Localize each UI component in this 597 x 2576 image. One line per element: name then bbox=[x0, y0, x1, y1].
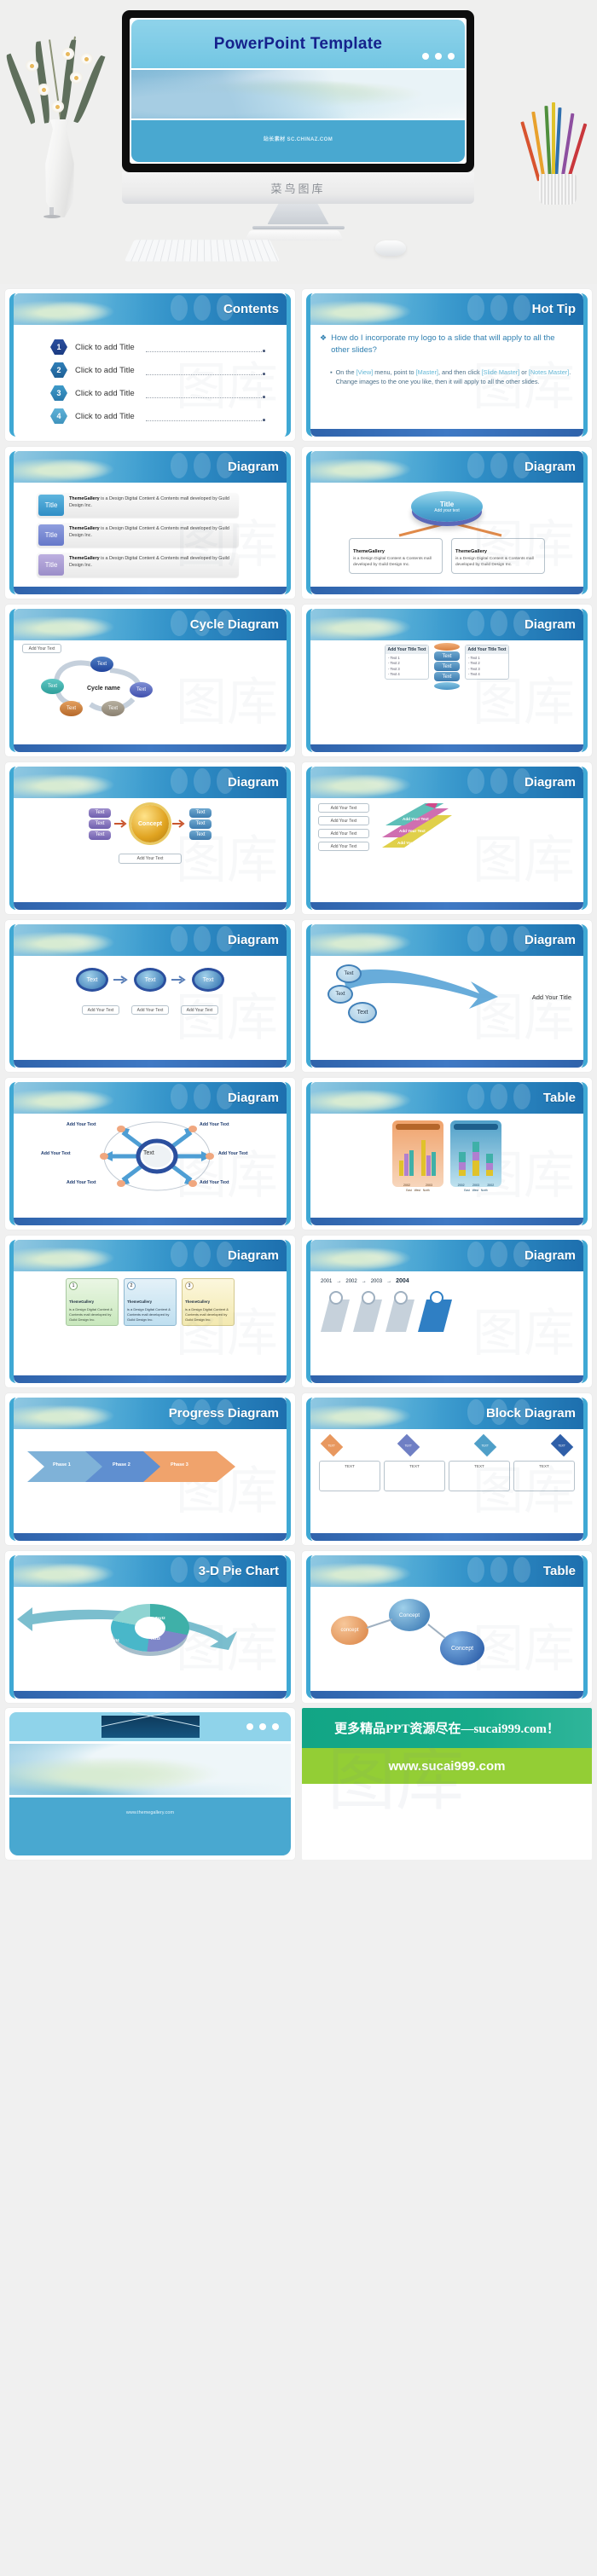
left-label[interactable]: Add Your Text bbox=[318, 816, 369, 825]
panel-line: - Text 4 bbox=[468, 672, 506, 677]
pie-label: Text4 bbox=[109, 1638, 119, 1642]
timeline-year: 2001 bbox=[321, 1279, 332, 1284]
arrow-right-icon bbox=[113, 975, 129, 985]
stack-item[interactable]: Text bbox=[434, 651, 460, 661]
diamond-bullet-icon: ❖ bbox=[320, 333, 327, 356]
arrow-icon: → bbox=[336, 1279, 341, 1284]
hero-dots-icon bbox=[246, 1723, 279, 1730]
step-number: 1 bbox=[50, 339, 67, 355]
stack-item[interactable]: Text bbox=[434, 672, 460, 681]
cycle-node[interactable]: Text bbox=[101, 701, 125, 716]
side-label[interactable]: Text bbox=[189, 819, 212, 829]
card-number: 1 bbox=[69, 1282, 78, 1290]
axis-label: 2002 bbox=[403, 1184, 410, 1187]
slide-grid: Contents 图库 1 Click to add Title 2 Click… bbox=[0, 284, 597, 1703]
block-box[interactable]: TEXT bbox=[449, 1461, 510, 1491]
step-label: Add Your Text bbox=[403, 817, 429, 821]
phase-label: Phase 3 bbox=[171, 1462, 188, 1467]
radial-center: Text bbox=[143, 1150, 154, 1156]
center-concept[interactable]: Concept bbox=[131, 805, 169, 842]
monitor-brand: 菜鸟图库 bbox=[270, 180, 325, 196]
decorative-plant bbox=[7, 34, 118, 217]
slide-title: 3-D Pie Chart bbox=[199, 1564, 279, 1578]
branch-bold: ThemeGallery bbox=[455, 549, 487, 554]
slide-pie-chart-3d[interactable]: 3-D Pie Chart 图库 Text1 Text2 Text3 Text4 bbox=[5, 1551, 295, 1703]
legend-item: East bbox=[406, 1189, 411, 1192]
legend-item: West bbox=[414, 1189, 420, 1192]
branch-text: is a Design Digital Content & Contents m… bbox=[455, 557, 541, 568]
watermark-text: 图库 bbox=[327, 1725, 464, 1824]
cylinder-stack: Text Text Text bbox=[434, 643, 460, 690]
info-card: Title ThemeGallery is a Design Digital C… bbox=[37, 493, 239, 518]
slide-title: Diagram bbox=[228, 933, 279, 947]
card-bold: ThemeGallery bbox=[185, 1300, 210, 1304]
left-label[interactable]: Add Your Text bbox=[318, 842, 369, 851]
arrow-right-icon bbox=[172, 819, 186, 829]
slide-diagram-radial[interactable]: Diagram 图库 bbox=[5, 1078, 295, 1230]
caption-box[interactable]: Add Your Text bbox=[131, 1005, 169, 1015]
legend-item: North bbox=[423, 1189, 430, 1192]
timeline-shapes bbox=[321, 1288, 573, 1335]
step-label: Add Your Text bbox=[397, 841, 424, 845]
info-card: 2 ThemeGallery is a Design Digital Conte… bbox=[124, 1278, 177, 1326]
card-number: 2 bbox=[127, 1282, 136, 1290]
chart-panel-left: 2002 2003 East West North bbox=[392, 1120, 443, 1187]
card-number: 3 bbox=[185, 1282, 194, 1290]
panel-line: - Text 4 bbox=[388, 672, 426, 677]
card-bold: ThemeGallery bbox=[69, 526, 100, 531]
pie-label: Text2 bbox=[155, 1616, 165, 1620]
circle-node[interactable]: Text bbox=[192, 968, 224, 992]
promo-banner[interactable]: 图库 更多精品PPT资源尽在—sucai999.com！ www.sucai99… bbox=[302, 1708, 592, 1860]
card-bold: ThemeGallery bbox=[69, 556, 100, 561]
slide-block-diagram[interactable]: Block Diagram 图库 TEXT TEXT TEXT TEXT TEX… bbox=[302, 1393, 592, 1545]
slide-diagram-three-circles[interactable]: Diagram 图库 Text Text Text Add Your Text … bbox=[5, 920, 295, 1072]
donut-chart bbox=[111, 1604, 189, 1652]
slide-title: Hot Tip bbox=[532, 302, 576, 316]
slide-title: Progress Diagram bbox=[169, 1406, 279, 1421]
question-text: How do I incorporate my logo to a slide … bbox=[331, 333, 569, 356]
legend-item: West bbox=[472, 1189, 478, 1192]
list-item-label: Click to add Title bbox=[75, 412, 135, 421]
footer-row: www.themegallery.com 图库 更多精品PPT资源尽在—suca… bbox=[0, 1703, 597, 1865]
slide-title: Diagram bbox=[525, 1248, 576, 1263]
branch-bold: ThemeGallery bbox=[353, 549, 385, 554]
panel-title: Add Your Title Text bbox=[385, 645, 428, 654]
flow-node[interactable]: Text bbox=[327, 985, 353, 1004]
arrow-icon: → bbox=[386, 1279, 391, 1284]
caption-box[interactable]: Add Your Text bbox=[82, 1005, 119, 1015]
list-item: 4 Click to add Title bbox=[50, 408, 265, 424]
radial-label: Add Your Text bbox=[200, 1180, 229, 1185]
axis-label: 2003 bbox=[426, 1184, 432, 1187]
slide-table-charts[interactable]: Table 图库 2002 2003 East bbox=[302, 1078, 592, 1230]
panel-title: Add Your Title Text bbox=[466, 645, 508, 654]
hot-tip-question: ❖ How do I incorporate my logo to a slid… bbox=[318, 330, 576, 356]
mouse bbox=[375, 240, 406, 256]
block-box[interactable]: TEXT bbox=[513, 1461, 575, 1491]
radial-label: Add Your Text bbox=[67, 1122, 96, 1127]
list-item-label: Click to add Title bbox=[75, 343, 135, 352]
hero-slide: PowerPoint Template 站长素材 SC.CHINAZ.COM bbox=[131, 20, 465, 162]
info-card: Title ThemeGallery is a Design Digital C… bbox=[37, 553, 239, 577]
radial-label: Add Your Text bbox=[67, 1180, 96, 1185]
slide-diagram-title-branch[interactable]: Diagram 图库 Title Add your text ThemeGall… bbox=[302, 447, 592, 599]
step-number: 2 bbox=[50, 362, 67, 378]
slide-title: Diagram bbox=[525, 933, 576, 947]
phase-label: Phase 2 bbox=[113, 1462, 130, 1467]
card-bold: ThemeGallery bbox=[127, 1300, 152, 1304]
slide-title: Diagram bbox=[228, 460, 279, 474]
arrow-right-icon bbox=[171, 975, 187, 985]
legend-item: North bbox=[481, 1189, 488, 1192]
flow-node[interactable]: Text bbox=[348, 1002, 377, 1023]
placeholder-image bbox=[101, 1716, 200, 1738]
slide-diagram-timeline[interactable]: Diagram 图库 2001→ 2002→ 2003→ 2004 bbox=[302, 1236, 592, 1387]
center-node: Title Add your text bbox=[411, 491, 483, 522]
step-number: 4 bbox=[50, 408, 67, 424]
slide-diagram-arrow-flow[interactable]: Diagram 图库 Text Text Text Add Your Title bbox=[302, 920, 592, 1072]
arrow-right-icon bbox=[114, 819, 128, 829]
list-item-label: Click to add Title bbox=[75, 366, 135, 375]
card-bold: ThemeGallery bbox=[69, 1300, 94, 1304]
flow-node[interactable]: Text bbox=[336, 964, 362, 983]
slide-title: Diagram bbox=[228, 1091, 279, 1105]
slide-title: Diagram bbox=[228, 775, 279, 790]
side-label[interactable]: Text bbox=[189, 808, 212, 818]
hot-tip-answer: ▪ On the [View] menu, point to [Master],… bbox=[330, 368, 576, 387]
block-label: TEXT bbox=[405, 1444, 412, 1447]
block-label: TEXT bbox=[559, 1444, 565, 1447]
vase bbox=[43, 119, 77, 217]
hero-photo bbox=[131, 70, 465, 119]
info-card: 1 ThemeGallery is a Design Digital Conte… bbox=[66, 1278, 119, 1326]
card-text: is a Design Digital Content & Contents m… bbox=[69, 1307, 115, 1323]
slide-cycle-diagram[interactable]: Cycle Diagram 图库 Add Your Text Text Text… bbox=[5, 605, 295, 756]
stack-item[interactable]: Text bbox=[434, 662, 460, 671]
cycle-name: Cycle name bbox=[87, 686, 120, 692]
list-item: 1 Click to add Title bbox=[50, 339, 265, 355]
circle-node[interactable]: Text bbox=[76, 968, 108, 992]
hero-credit: 站长素材 SC.CHINAZ.COM bbox=[131, 135, 465, 142]
slide-contents[interactable]: Contents 图库 1 Click to add Title 2 Click… bbox=[5, 289, 295, 441]
step-label: Add Your Text bbox=[399, 829, 426, 833]
slide-progress-diagram[interactable]: Progress Diagram 图库 Phase 1 Phase 2 Phas… bbox=[5, 1393, 295, 1545]
block-label: TEXT bbox=[482, 1444, 489, 1447]
pie-label: Text3 bbox=[150, 1636, 160, 1641]
cycle-node[interactable]: Text bbox=[41, 679, 64, 694]
info-card: 3 ThemeGallery is a Design Digital Conte… bbox=[182, 1278, 235, 1326]
slide-title: Contents bbox=[223, 302, 279, 316]
concept-connectors bbox=[310, 1587, 583, 1672]
center-title: Title bbox=[440, 501, 454, 508]
footer-photo bbox=[9, 1744, 291, 1795]
timeline-year: 2003 bbox=[371, 1279, 382, 1284]
hero-mockup: 图库 PowerPoint Template bbox=[0, 0, 597, 284]
slide-diagram-themegallery[interactable]: Diagram 图库 Title ThemeGallery is a Desig… bbox=[5, 447, 295, 599]
arrow-icon: → bbox=[362, 1279, 367, 1284]
card-title: Title bbox=[38, 524, 64, 546]
side-label[interactable]: Text bbox=[189, 831, 212, 840]
list-item: 2 Click to add Title bbox=[50, 362, 265, 378]
slide-title: Diagram bbox=[228, 1248, 279, 1263]
info-card: Title ThemeGallery is a Design Digital C… bbox=[37, 523, 239, 547]
flow-caption: Add Your Title bbox=[532, 993, 571, 1001]
left-label[interactable]: Add Your Text bbox=[318, 829, 369, 838]
thankyou-url: www.themegallery.com bbox=[9, 1810, 291, 1815]
cycle-node[interactable]: Text bbox=[90, 657, 113, 672]
block-label: TEXT bbox=[328, 1444, 335, 1447]
circle-node[interactable]: Text bbox=[134, 968, 166, 992]
slide-hot-tip[interactable]: Hot Tip 图库 ❖ How do I incorporate my log… bbox=[302, 289, 592, 441]
list-item: 3 Click to add Title bbox=[50, 385, 265, 401]
slide-title: Cycle Diagram bbox=[190, 617, 279, 632]
axis-label: 2002 bbox=[458, 1184, 465, 1187]
slide-thank-you[interactable]: www.themegallery.com bbox=[5, 1708, 295, 1860]
slide-title: Block Diagram bbox=[486, 1406, 576, 1421]
slide-title: Table bbox=[543, 1091, 576, 1105]
card-bold: ThemeGallery bbox=[69, 496, 100, 501]
connector-arrows bbox=[318, 524, 576, 537]
card-title: Title bbox=[38, 554, 64, 576]
axis-label: 2002 bbox=[487, 1184, 494, 1187]
side-label[interactable]: Text bbox=[89, 831, 111, 840]
chart-panel-right: 2002 2003 2002 East West North bbox=[450, 1120, 501, 1187]
block-box[interactable]: TEXT bbox=[319, 1461, 380, 1491]
slide-diagram-steps[interactable]: Diagram 图库 Add Your Text Add Your Text A… bbox=[302, 762, 592, 914]
radial-label: Add Your Text bbox=[200, 1122, 229, 1127]
square-bullet-icon: ▪ bbox=[330, 368, 333, 387]
radial-label: Add Your Text bbox=[218, 1151, 248, 1156]
slide-diagram-concept[interactable]: Diagram 图库 Text Text Text Concept Text T… bbox=[5, 762, 295, 914]
decorative-pencils bbox=[527, 102, 588, 205]
keyboard bbox=[125, 240, 280, 261]
timeline-year: 2002 bbox=[345, 1279, 356, 1284]
center-subtitle: Add your text bbox=[434, 508, 459, 513]
left-label[interactable]: Add Your Text bbox=[318, 803, 369, 813]
branch-text: is a Design Digital Content & Contents m… bbox=[353, 557, 438, 568]
slide-table-concepts[interactable]: Table 图库 concept Concept Concept bbox=[302, 1551, 592, 1703]
list-item-label: Click to add Title bbox=[75, 389, 135, 398]
bar-chart bbox=[396, 1135, 440, 1179]
side-label[interactable]: Text bbox=[89, 819, 111, 829]
pie-label: Text1 bbox=[119, 1602, 130, 1606]
cycle-node[interactable]: Text bbox=[130, 682, 153, 698]
slide-diagram-cylinders[interactable]: Diagram 图库 Add Your Title Text - Text 1 … bbox=[302, 605, 592, 756]
card-text: is a Design Digital Content & Contents m… bbox=[127, 1307, 173, 1323]
small-stand bbox=[41, 205, 63, 218]
side-label[interactable]: Text bbox=[89, 808, 111, 818]
axis-label: 2003 bbox=[472, 1184, 479, 1187]
step-number: 3 bbox=[50, 385, 67, 401]
footer-label[interactable]: Add Your Text bbox=[119, 854, 182, 864]
hero-title: PowerPoint Template bbox=[214, 35, 383, 54]
legend-item: East bbox=[464, 1189, 469, 1192]
block-box[interactable]: TEXT bbox=[384, 1461, 445, 1491]
stacked-bar-chart bbox=[454, 1135, 498, 1179]
slide-diagram-3cards[interactable]: Diagram 图库 1 ThemeGallery is a Design Di… bbox=[5, 1236, 295, 1387]
radial-label: Add Your Text bbox=[41, 1151, 71, 1156]
phase-label: Phase 1 bbox=[53, 1462, 71, 1467]
monitor-mockup: PowerPoint Template 站长素材 SC.CHINAZ.COM 菜… bbox=[122, 10, 474, 223]
card-title: Title bbox=[38, 495, 64, 516]
caption-box[interactable]: Add Your Text bbox=[181, 1005, 218, 1015]
slide-title: Diagram bbox=[525, 617, 576, 632]
slide-title: Diagram bbox=[525, 460, 576, 474]
card-text: is a Design Digital Content & Contents m… bbox=[185, 1307, 231, 1323]
timeline-year: 2004 bbox=[396, 1278, 409, 1284]
slide-title: Diagram bbox=[525, 775, 576, 790]
cycle-node[interactable]: Text bbox=[60, 701, 83, 716]
slide-title: Table bbox=[543, 1564, 576, 1578]
hero-dots-icon bbox=[422, 53, 455, 60]
